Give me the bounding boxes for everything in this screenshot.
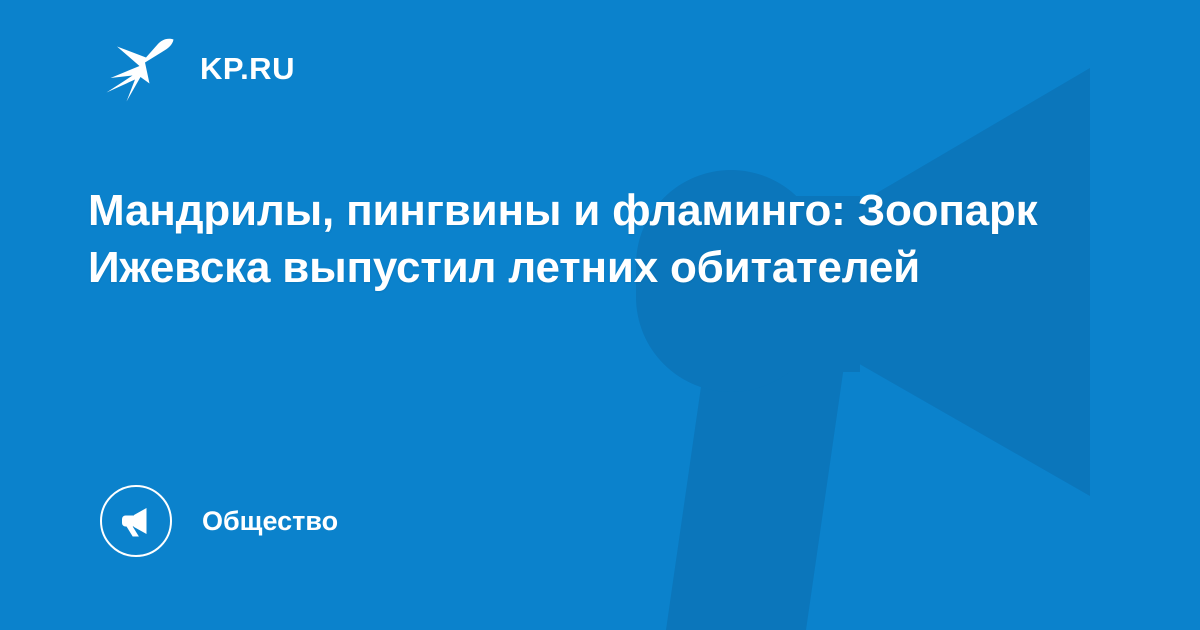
brand-logo-block[interactable]: KP.RU	[104, 36, 295, 100]
megaphone-icon	[118, 503, 154, 539]
category-block[interactable]: Общество	[100, 485, 338, 557]
page-title: Мандрилы, пингвины и фламинго: Зоопарк И…	[88, 182, 1098, 296]
share-card: KP.RU Мандрилы, пингвины и фламинго: Зоо…	[0, 0, 1200, 630]
category-label: Общество	[202, 508, 338, 535]
brand-name: KP.RU	[200, 53, 295, 84]
category-badge[interactable]	[100, 485, 172, 557]
swallow-bird-icon	[104, 34, 176, 102]
